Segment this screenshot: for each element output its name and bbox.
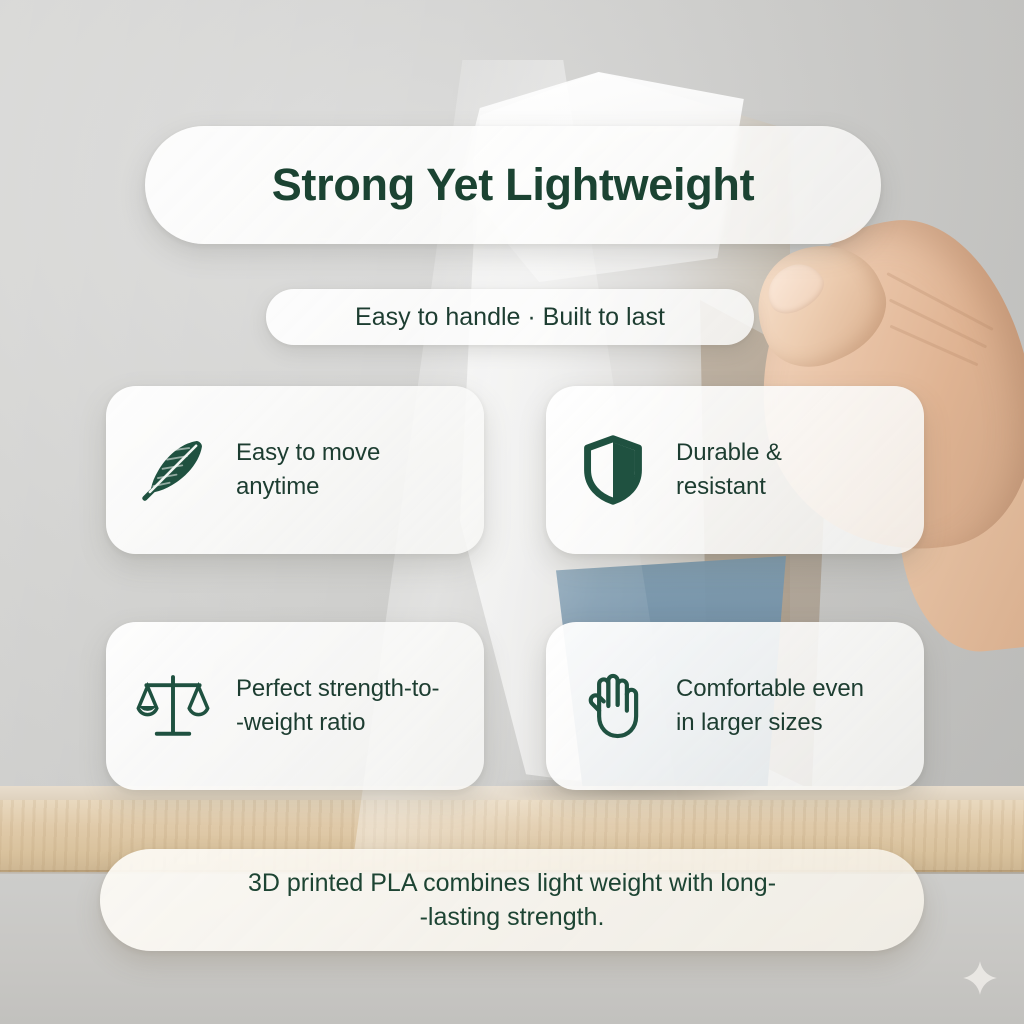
footer-pill: 3D printed PLA combines light weight wit… bbox=[100, 849, 924, 951]
feature-card-easy-to-move[interactable]: Easy to move anytime bbox=[106, 386, 484, 554]
feature-card-label: Durable & resistant bbox=[676, 436, 782, 504]
infographic-stage: Strong Yet Lightweight Easy to handle · … bbox=[0, 0, 1024, 1024]
footer-caption: 3D printed PLA combines light weight wit… bbox=[248, 866, 776, 935]
subtitle-pill: Easy to handle · Built to last bbox=[266, 289, 754, 345]
feature-card-comfortable[interactable]: Comfortable even in larger sizes bbox=[546, 622, 924, 790]
feature-line-2: in larger sizes bbox=[676, 709, 823, 736]
feature-line-1: Durable & bbox=[676, 439, 782, 466]
footer-line-2: -lasting strength. bbox=[420, 903, 605, 931]
feature-card-label: Easy to move anytime bbox=[236, 436, 380, 504]
content-layer: Strong Yet Lightweight Easy to handle · … bbox=[0, 0, 1024, 1024]
shield-icon bbox=[576, 433, 650, 507]
feather-icon bbox=[136, 433, 210, 507]
feature-line-1: Easy to move bbox=[236, 439, 380, 466]
feature-line-1: Perfect strength-to- bbox=[236, 675, 439, 702]
feature-line-2: resistant bbox=[676, 473, 766, 500]
feature-card-label: Perfect strength-to- -weight ratio bbox=[236, 672, 439, 740]
sparkle-icon bbox=[962, 960, 998, 996]
title-pill: Strong Yet Lightweight bbox=[145, 126, 881, 244]
feature-card-strength-to-weight[interactable]: Perfect strength-to- -weight ratio bbox=[106, 622, 484, 790]
footer-line-1: 3D printed PLA combines light weight wit… bbox=[248, 869, 776, 897]
page-title: Strong Yet Lightweight bbox=[272, 159, 755, 211]
feature-line-1: Comfortable even bbox=[676, 675, 864, 702]
feature-card-label: Comfortable even in larger sizes bbox=[676, 672, 864, 740]
hand-icon bbox=[576, 669, 650, 743]
feature-line-2: anytime bbox=[236, 473, 319, 500]
feature-grid: Easy to move anytime Durable & resistant bbox=[106, 386, 924, 790]
page-subtitle: Easy to handle · Built to last bbox=[355, 303, 665, 332]
balance-scale-icon bbox=[136, 669, 210, 743]
feature-card-durable[interactable]: Durable & resistant bbox=[546, 386, 924, 554]
feature-line-2: -weight ratio bbox=[236, 709, 365, 736]
